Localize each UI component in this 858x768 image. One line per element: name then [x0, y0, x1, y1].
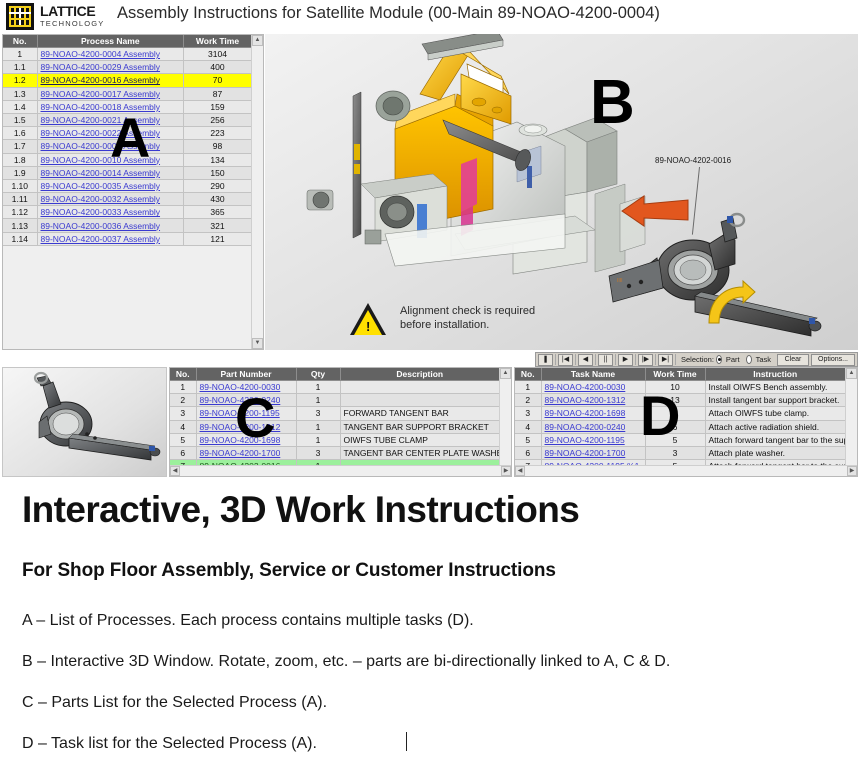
cell-text: 321	[184, 219, 252, 232]
scroll-right-icon[interactable]: ▶	[847, 466, 857, 476]
cell-text: 1.12	[3, 206, 37, 219]
cell-text: 400	[184, 61, 252, 74]
radio-task-label[interactable]: Task	[756, 355, 771, 364]
clear-button[interactable]: Clear	[777, 354, 809, 366]
row-link[interactable]: 89-NOAO-4200-0018 Assembly	[41, 102, 161, 112]
cell-text: Attach forward tangent bar to the suppor…	[705, 433, 846, 446]
row-link[interactable]: 89-NOAO-4200-0021 Assembly	[41, 115, 161, 125]
cell-link[interactable]: 89-NOAO-4200-0016 Assembly	[37, 74, 184, 87]
scroll-down-icon[interactable]: ▼	[252, 338, 263, 349]
toolbar-separator	[635, 354, 636, 365]
row-link[interactable]: 89-NOAO-4200-0240	[200, 395, 281, 405]
radio-task[interactable]	[746, 355, 752, 364]
table-header-row: No. Task Name Work Time Instruction	[515, 368, 846, 381]
row-link[interactable]: 89-NOAO-4200-1312	[200, 422, 281, 432]
row-link[interactable]: 89-NOAO-4200-0029 Assembly	[41, 62, 161, 72]
row-link[interactable]: 89-NOAO-4200-1700	[200, 448, 281, 458]
row-link[interactable]: 89-NOAO-4200-1312	[545, 395, 626, 405]
scroll-up-icon[interactable]: ▲	[500, 368, 511, 379]
table-row[interactable]: 389-NOAO-4200-16987Attach OIWFS tube cla…	[515, 407, 846, 420]
lattice-logo-icon	[6, 3, 34, 30]
cell-text: 10	[645, 381, 705, 394]
cell-text: 3	[170, 407, 196, 420]
process-table[interactable]: No. Process Name Work Time 189-NOAO-4200…	[3, 35, 252, 246]
row-link[interactable]: 89-NOAO-4200-0037 Assembly	[41, 234, 161, 244]
col-task-name: Task Name	[541, 368, 645, 381]
parts-list-panel[interactable]: No. Part Number Qty Description 189-NOAO…	[169, 367, 512, 477]
translate-arrow-icon	[620, 194, 690, 228]
toolbar-separator	[675, 354, 676, 365]
row-link[interactable]: 89-NOAO-4200-0010 Assembly	[41, 155, 161, 165]
cell-link[interactable]: 89-NOAO-4200-0240	[196, 394, 296, 407]
cell-text: 134	[184, 153, 252, 166]
cell-text: 3	[645, 446, 705, 459]
play-next-button[interactable]: ▶	[618, 354, 633, 366]
cell-link[interactable]: 89-NOAO-4200-0240	[541, 420, 645, 433]
cell-text: 1.3	[3, 87, 37, 100]
table-row[interactable]: 689-NOAO-4200-17003TANGENT BAR CENTER PL…	[170, 446, 500, 459]
cell-text: Attach plate washer.	[705, 446, 846, 459]
cell-link[interactable]: 89-NOAO-4200-1698	[541, 407, 645, 420]
toolbar-separator	[615, 354, 616, 365]
cell-text: 5	[515, 433, 541, 446]
cell-text: 1.14	[3, 232, 37, 245]
cell-text: 1.4	[3, 100, 37, 113]
cell-link[interactable]: 89-NOAO-4200-0030	[196, 381, 296, 394]
col-no: No.	[3, 35, 37, 48]
toolbar-separator	[575, 354, 576, 365]
table-row[interactable]: 1.889-NOAO-4200-0010 Assembly134	[3, 153, 252, 166]
scroll-right-icon[interactable]: ▶	[501, 466, 511, 476]
cell-text: 290	[184, 179, 252, 192]
last-button[interactable]: ▶|	[658, 354, 673, 366]
table-row[interactable]: 189-NOAO-4200-00301	[170, 381, 500, 394]
cell-text: 1	[515, 381, 541, 394]
options-button[interactable]: Options...	[811, 354, 855, 366]
app-header: LATTICE TECHNOLOGY Assembly Instructions…	[0, 0, 858, 34]
row-link[interactable]: 89-NOAO-4200-0004 Assembly	[41, 49, 161, 59]
row-link[interactable]: 89-NOAO-4200-1698	[545, 408, 626, 418]
cell-text: TANGENT BAR CENTER PLATE WASHER	[340, 446, 500, 459]
table-row[interactable]: 189-NOAO-4200-0004 Assembly3104	[3, 48, 252, 61]
cell-link[interactable]: 89-NOAO-4200-0029 Assembly	[37, 61, 184, 74]
cell-text: 1.11	[3, 193, 37, 206]
toolbar-separator	[555, 354, 556, 365]
table-header-row: No. Process Name Work Time	[3, 35, 252, 48]
cell-text: 3104	[184, 48, 252, 61]
cell-link[interactable]: 89-NOAO-4200-1312	[196, 420, 296, 433]
cell-text: 4	[170, 420, 196, 433]
cell-text: 2	[170, 394, 196, 407]
caption-line-a: A – List of Processes. Each process cont…	[22, 612, 474, 630]
cell-text: 1.5	[3, 113, 37, 126]
table-row[interactable]: 1.1489-NOAO-4200-0037 Assembly121	[3, 232, 252, 245]
pause-button[interactable]: ||	[598, 354, 613, 366]
table-row[interactable]: 1.289-NOAO-4200-0016 Assembly70	[3, 74, 252, 87]
cell-link[interactable]: 89-NOAO-4200-1700	[541, 446, 645, 459]
row-link[interactable]: 89-NOAO-4200-0035 Assembly	[41, 181, 161, 191]
table-header-row: No. Part Number Qty Description	[170, 368, 500, 381]
cell-link[interactable]: 89-NOAO-4200-0009 Assembly	[37, 140, 184, 153]
cell-text: 1	[296, 381, 340, 394]
col-process-name: Process Name	[37, 35, 184, 48]
warning-text-line2: before installation.	[400, 319, 489, 331]
row-link[interactable]: 89-NOAO-4200-1195	[200, 408, 280, 418]
col-work-time: Work Time	[645, 368, 705, 381]
cell-text: 1	[296, 394, 340, 407]
cell-text: 365	[184, 206, 252, 219]
table-row[interactable]: 1.1389-NOAO-4200-0036 Assembly321	[3, 219, 252, 232]
cell-link[interactable]: 89-NOAO-4200-0014 Assembly	[37, 166, 184, 179]
document-title: Assembly Instructions for Satellite Modu…	[117, 4, 660, 23]
cell-text: 3	[296, 407, 340, 420]
row-link[interactable]: 89-NOAO-4200-0032 Assembly	[41, 194, 161, 204]
scroll-left-icon[interactable]: ◀	[515, 466, 525, 476]
table-row[interactable]: 1.389-NOAO-4200-0017 Assembly87	[3, 87, 252, 100]
row-link[interactable]: 89-NOAO-4200-0017 Assembly	[41, 89, 161, 99]
cell-text: 70	[184, 74, 252, 87]
selection-label: Selection:	[681, 355, 714, 364]
cell-text: 430	[184, 193, 252, 206]
table-row[interactable]: 189-NOAO-4200-003010Install OIWFS Bench …	[515, 381, 846, 394]
col-description: Description	[340, 368, 500, 381]
parts-list-hscrollbar[interactable]: ◀ ▶	[170, 465, 511, 476]
row-link[interactable]: 89-NOAO-4200-1195	[545, 435, 625, 445]
caption-line-b: B – Interactive 3D Window. Rotate, zoom,…	[22, 653, 670, 671]
table-row[interactable]: 1.1289-NOAO-4200-0033 Assembly365	[3, 206, 252, 219]
row-link[interactable]: 89-NOAO-4200-0240	[545, 422, 626, 432]
task-list-hscrollbar[interactable]: ◀ ▶	[515, 465, 857, 476]
radio-part[interactable]	[716, 355, 722, 364]
row-link[interactable]: 89-NOAO-4200-0030	[200, 382, 281, 392]
cell-text: 4	[515, 420, 541, 433]
cell-text: 1	[296, 420, 340, 433]
process-list-scrollbar[interactable]: ▲ ▼	[251, 35, 263, 349]
text-caret	[406, 732, 407, 751]
table-row[interactable]: 1.689-NOAO-4200-0022 Assembly223	[3, 127, 252, 140]
cell-link[interactable]: 89-NOAO-4200-1312	[541, 394, 645, 407]
row-link[interactable]: 89-NOAO-4200-0022 Assembly	[41, 128, 161, 138]
screenshot-root: LATTICE TECHNOLOGY Assembly Instructions…	[0, 0, 858, 768]
table-row[interactable]: 1.189-NOAO-4200-0029 Assembly400	[3, 61, 252, 74]
cell-text: Install OIWFS Bench assembly.	[705, 381, 846, 394]
row-link[interactable]: 89-NOAO-4200-0036 Assembly	[41, 221, 161, 231]
viewport-3d[interactable]: IIII B 89-NOAO-4202-0016	[265, 34, 858, 350]
task-list-scrollbar[interactable]: ▲ ▼	[845, 368, 857, 476]
cell-text: OIWFS TUBE CLAMP	[340, 433, 500, 446]
cell-text: 6	[170, 446, 196, 459]
cell-link[interactable]: 89-NOAO-4200-0017 Assembly	[37, 87, 184, 100]
table-row[interactable]: 689-NOAO-4200-17003Attach plate washer.	[515, 446, 846, 459]
row-link[interactable]: 89-NOAO-4200-0030	[545, 382, 626, 392]
cell-text: 1.1	[3, 61, 37, 74]
cell-text: 223	[184, 127, 252, 140]
col-work-time: Work Time	[184, 35, 252, 48]
cell-text: 13	[645, 394, 705, 407]
cell-link[interactable]: 89-NOAO-4200-0032 Assembly	[37, 193, 184, 206]
part-callout-label: 89-NOAO-4202-0016	[655, 156, 731, 165]
cell-text: Attach active radiation shield.	[705, 420, 846, 433]
col-no: No.	[515, 368, 541, 381]
cell-text: 3	[515, 407, 541, 420]
cell-text: Attach OIWFS tube clamp.	[705, 407, 846, 420]
previous-button[interactable]: ◀	[578, 354, 593, 366]
caption-subtitle: For Shop Floor Assembly, Service or Cust…	[22, 560, 556, 582]
cell-link[interactable]: 89-NOAO-4200-0037 Assembly	[37, 232, 184, 245]
brand-tagline: TECHNOLOGY	[40, 20, 105, 28]
table-row[interactable]: 1.489-NOAO-4200-0018 Assembly159	[3, 100, 252, 113]
col-instruction: Instruction	[705, 368, 846, 381]
cell-link[interactable]: 89-NOAO-4200-0033 Assembly	[37, 206, 184, 219]
col-no: No.	[170, 368, 196, 381]
cell-text: 7	[645, 407, 705, 420]
task-table[interactable]: No. Task Name Work Time Instruction 189-…	[515, 368, 846, 466]
table-row[interactable]: 1.789-NOAO-4200-0009 Assembly98	[3, 140, 252, 153]
col-qty: Qty	[296, 368, 340, 381]
table-row[interactable]: 289-NOAO-4200-02401	[170, 394, 500, 407]
cell-link[interactable]: 89-NOAO-4200-1195	[541, 433, 645, 446]
scroll-up-icon[interactable]: ▲	[252, 35, 263, 46]
selected-part-preview-graphic	[3, 368, 166, 476]
brand-wordmark: LATTICE TECHNOLOGY	[40, 4, 105, 28]
cell-link[interactable]: 89-NOAO-4200-1195	[196, 407, 296, 420]
cell-text: 1.2	[3, 74, 37, 87]
col-part-number: Part Number	[196, 368, 296, 381]
cell-text: 5	[645, 433, 705, 446]
table-row[interactable]: 1.989-NOAO-4200-0014 Assembly150	[3, 166, 252, 179]
cell-text: 1.6	[3, 127, 37, 140]
caption-line-c: C – Parts List for the Selected Process …	[22, 694, 327, 712]
table-row[interactable]: 489-NOAO-4200-02406Attach active radiati…	[515, 420, 846, 433]
cell-text	[340, 381, 500, 394]
cell-text: 1	[3, 48, 37, 61]
playback-toolbar[interactable]: ❚|◀◀||▶|▶▶| Selection: Part Task Clear O…	[535, 352, 858, 367]
scroll-up-icon[interactable]: ▲	[846, 368, 857, 379]
table-row[interactable]: 1.589-NOAO-4200-0021 Assembly256	[3, 113, 252, 126]
cell-link[interactable]: 89-NOAO-4200-1698	[196, 433, 296, 446]
row-link[interactable]: 89-NOAO-4200-1700	[545, 448, 626, 458]
cell-text: 6	[515, 446, 541, 459]
process-list-panel[interactable]: No. Process Name Work Time 189-NOAO-4200…	[2, 34, 264, 350]
table-row[interactable]: 1.1189-NOAO-4200-0032 Assembly430	[3, 193, 252, 206]
rotate-arrow-icon	[705, 279, 757, 327]
cell-text: 159	[184, 100, 252, 113]
row-link[interactable]: 89-NOAO-4200-0033 Assembly	[41, 207, 161, 217]
cell-text: 1.8	[3, 153, 37, 166]
cell-link[interactable]: 89-NOAO-4200-0018 Assembly	[37, 100, 184, 113]
cell-link[interactable]: 89-NOAO-4200-0021 Assembly	[37, 113, 184, 126]
scroll-left-icon[interactable]: ◀	[170, 466, 180, 476]
cell-text: 1.10	[3, 179, 37, 192]
caption-area: Interactive, 3D Work Instructions For Sh…	[0, 480, 858, 768]
cell-link[interactable]: 89-NOAO-4200-0035 Assembly	[37, 179, 184, 192]
cell-text: 150	[184, 166, 252, 179]
cell-text: FORWARD TANGENT BAR	[340, 407, 500, 420]
caption-line-d: D – Task list for the Selected Process (…	[22, 735, 317, 753]
table-row[interactable]: 389-NOAO-4200-11953FORWARD TANGENT BAR	[170, 407, 500, 420]
cell-text: Install tangent bar support bracket.	[705, 394, 846, 407]
annotation-letter-b: B	[590, 72, 635, 134]
radio-part-label[interactable]: Part	[726, 355, 740, 364]
step-forward-button[interactable]: |▶	[638, 354, 653, 366]
part-preview-panel[interactable]	[2, 367, 167, 477]
cell-link[interactable]: 89-NOAO-4200-1700	[196, 446, 296, 459]
cell-text: 87	[184, 87, 252, 100]
svg-text:IIII: IIII	[617, 278, 623, 284]
cell-link[interactable]: 89-NOAO-4200-0036 Assembly	[37, 219, 184, 232]
cell-text: 3	[296, 446, 340, 459]
table-row[interactable]: 289-NOAO-4200-131213Install tangent bar …	[515, 394, 846, 407]
cell-text: 1	[170, 381, 196, 394]
parts-table[interactable]: No. Part Number Qty Description 189-NOAO…	[170, 368, 500, 466]
caption-title: Interactive, 3D Work Instructions	[22, 489, 579, 531]
row-link[interactable]: 89-NOAO-4200-0016 Assembly	[41, 75, 161, 85]
application-window: LATTICE TECHNOLOGY Assembly Instructions…	[0, 0, 858, 480]
cell-text: TANGENT BAR SUPPORT BRACKET	[340, 420, 500, 433]
cell-text: 2	[515, 394, 541, 407]
brand-name: LATTICE	[40, 4, 105, 18]
toolbar-separator	[595, 354, 596, 365]
cell-link[interactable]: 89-NOAO-4200-0010 Assembly	[37, 153, 184, 166]
cell-link[interactable]: 89-NOAO-4200-0004 Assembly	[37, 48, 184, 61]
cell-text: 1	[296, 433, 340, 446]
cell-link[interactable]: 89-NOAO-4200-0030	[541, 381, 645, 394]
stop-button[interactable]: ❚	[538, 354, 553, 366]
toolbar-separator	[655, 354, 656, 365]
cell-text: 6	[645, 420, 705, 433]
cell-text: 1.7	[3, 140, 37, 153]
cell-link[interactable]: 89-NOAO-4200-0022 Assembly	[37, 127, 184, 140]
task-list-panel[interactable]: No. Task Name Work Time Instruction 189-…	[514, 367, 858, 477]
table-row[interactable]: 489-NOAO-4200-13121TANGENT BAR SUPPORT B…	[170, 420, 500, 433]
cell-text: 5	[170, 433, 196, 446]
parts-list-scrollbar[interactable]: ▲ ▼	[499, 368, 511, 476]
cell-text: 1.9	[3, 166, 37, 179]
row-link[interactable]: 89-NOAO-4200-1698	[200, 435, 281, 445]
cell-text: 1.13	[3, 219, 37, 232]
alignment-warning-note: ! Alignment check is required before ins…	[350, 299, 630, 343]
warning-text: Alignment check is required before insta…	[400, 305, 535, 333]
warning-exclamation-icon: !	[366, 320, 370, 333]
cell-text: 98	[184, 140, 252, 153]
row-link[interactable]: 89-NOAO-4200-0009 Assembly	[41, 141, 161, 151]
first-button[interactable]: |◀	[558, 354, 573, 366]
cell-text	[340, 394, 500, 407]
row-link[interactable]: 89-NOAO-4200-0014 Assembly	[41, 168, 161, 178]
table-row[interactable]: 589-NOAO-4200-16981OIWFS TUBE CLAMP	[170, 433, 500, 446]
cell-text: 121	[184, 232, 252, 245]
warning-text-line1: Alignment check is required	[400, 305, 535, 317]
table-row[interactable]: 1.1089-NOAO-4200-0035 Assembly290	[3, 179, 252, 192]
cell-text: 256	[184, 113, 252, 126]
table-row[interactable]: 589-NOAO-4200-11955Attach forward tangen…	[515, 433, 846, 446]
